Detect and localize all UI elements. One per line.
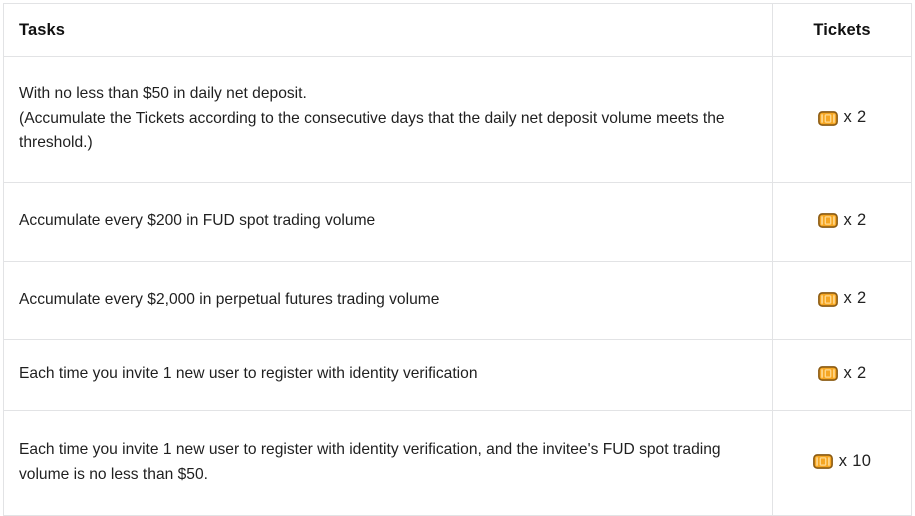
task-description-cell: Accumulate every $2,000 in perpetual fut…	[4, 262, 773, 340]
ticket-reward-cell: x 2	[773, 262, 912, 340]
table-header-row: Tasks Tickets	[4, 4, 912, 57]
task-description-line: With no less than $50 in daily net depos…	[19, 82, 756, 107]
reward-table-page: Tasks Tickets With no less than $50 in d…	[0, 0, 915, 403]
ticket-icon	[818, 213, 838, 228]
ticket-icon	[818, 292, 838, 307]
ticket-reward: x 10	[813, 453, 871, 470]
task-description-cell: Each time you invite 1 new user to regis…	[4, 340, 773, 411]
ticket-reward-cell: x 2	[773, 57, 912, 183]
column-header-tickets: Tickets	[773, 4, 912, 57]
task-description-line: Accumulate every $200 in FUD spot tradin…	[19, 209, 756, 234]
ticket-icon	[818, 366, 838, 381]
ticket-count-label: x 2	[844, 365, 867, 382]
table-row: Each time you invite 1 new user to regis…	[4, 340, 912, 411]
ticket-reward-cell: x 10	[773, 411, 912, 516]
ticket-count-label: x 10	[839, 453, 871, 470]
ticket-reward-cell: x 2	[773, 340, 912, 411]
table-row: Accumulate every $2,000 in perpetual fut…	[4, 262, 912, 340]
table-row: With no less than $50 in daily net depos…	[4, 57, 912, 183]
table-row: Each time you invite 1 new user to regis…	[4, 411, 912, 516]
task-description-line: Each time you invite 1 new user to regis…	[19, 438, 756, 487]
ticket-reward: x 2	[818, 212, 867, 229]
ticket-count-label: x 2	[844, 109, 867, 126]
table-row: Accumulate every $200 in FUD spot tradin…	[4, 183, 912, 262]
task-description-cell: Accumulate every $200 in FUD spot tradin…	[4, 183, 773, 262]
ticket-icon	[813, 454, 833, 469]
task-description-line: (Accumulate the Tickets according to the…	[19, 107, 756, 156]
table-header: Tasks Tickets	[4, 4, 912, 57]
column-header-tasks: Tasks	[4, 4, 773, 57]
ticket-count-label: x 2	[844, 212, 867, 229]
ticket-reward: x 2	[818, 365, 867, 382]
tasks-and-tickets-reward-table: Tasks Tickets With no less than $50 in d…	[3, 3, 912, 516]
task-description-cell: Each time you invite 1 new user to regis…	[4, 411, 773, 516]
ticket-count-label: x 2	[844, 290, 867, 307]
task-description-cell: With no less than $50 in daily net depos…	[4, 57, 773, 183]
task-description-line: Each time you invite 1 new user to regis…	[19, 362, 756, 387]
ticket-reward-cell: x 2	[773, 183, 912, 262]
table-body: With no less than $50 in daily net depos…	[4, 57, 912, 516]
ticket-icon	[818, 111, 838, 126]
task-description-line: Accumulate every $2,000 in perpetual fut…	[19, 288, 756, 313]
ticket-reward: x 2	[818, 109, 867, 126]
ticket-reward: x 2	[818, 290, 867, 307]
